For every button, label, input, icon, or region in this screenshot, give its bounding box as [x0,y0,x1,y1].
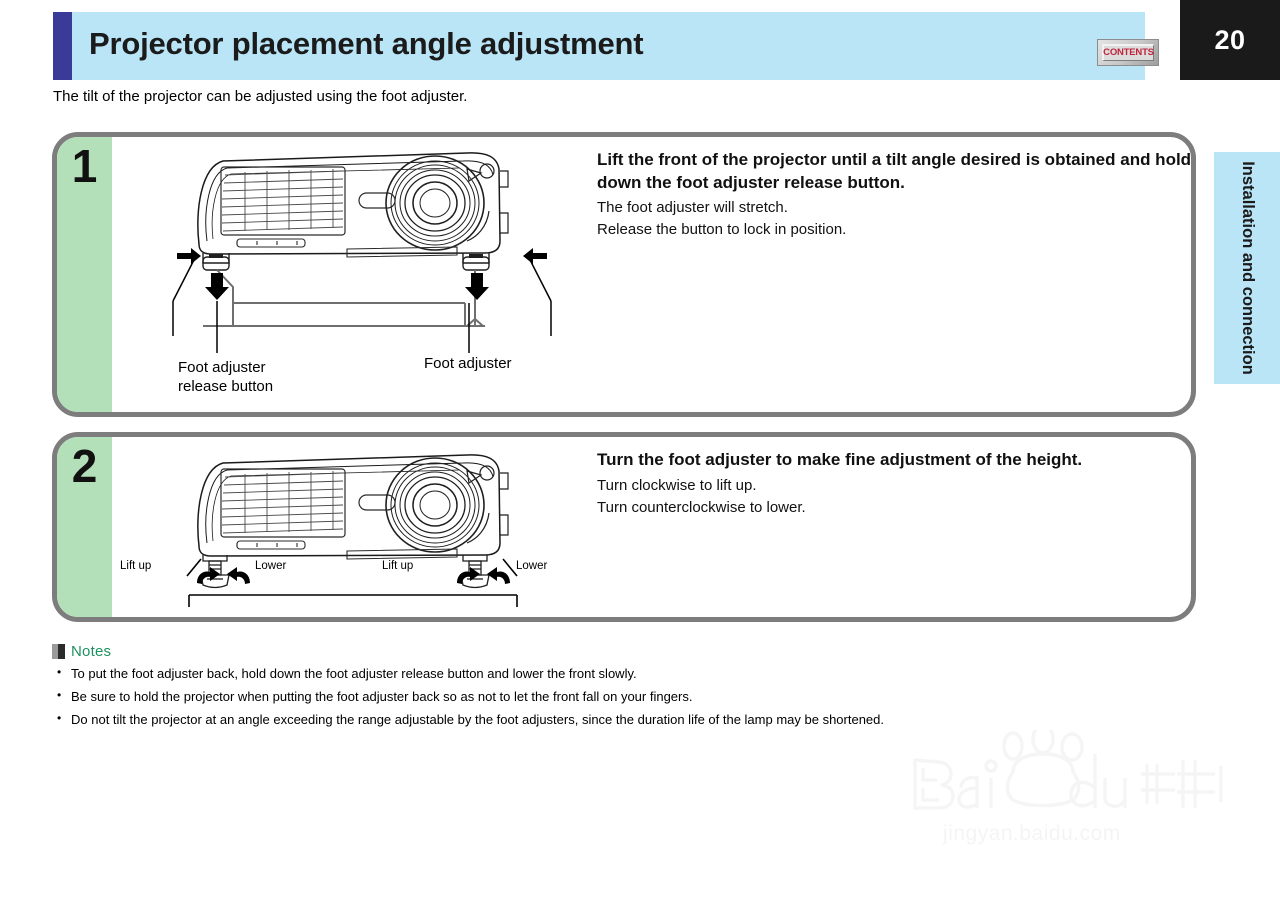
notes-heading: Notes [52,643,1172,660]
projector-illustration-step-2 [167,443,587,608]
caption-left-lower: Lower [255,560,286,572]
section-side-tab: Installation and connection [1214,152,1280,384]
step-number-column: 2 [57,437,112,617]
caption-left-lift-up: Lift up [120,560,151,572]
caption-release-button-line-2: release button [178,378,273,397]
header-accent-bar [53,12,72,80]
page-title: Projector placement angle adjustment [89,26,643,62]
step-1-line-1: The foot adjuster will stretch. [597,197,1196,219]
step-1-line-2: Release the button to lock in position. [597,219,1196,241]
step-number: 1 [57,143,112,189]
step-1-heading: Lift the front of the projector until a … [597,149,1196,194]
contents-button-face: CONTENTS [1102,44,1154,61]
notes-list: To put the foot adjuster back, hold down… [52,664,1172,730]
caption-right-lift-up: Lift up [382,560,413,572]
note-item: Do not tilt the projector at an angle ex… [52,710,1172,730]
step-panel-2: 2 Turn the foot adjuster to make fine ad… [52,432,1196,622]
note-item: To put the foot adjuster back, hold down… [52,664,1172,684]
step-1-instructions: Lift the front of the projector until a … [597,149,1196,241]
step-2-heading: Turn the foot adjuster to make fine adju… [597,449,1196,472]
step-number: 2 [57,443,112,489]
step-2-line-1: Turn clockwise to lift up. [597,475,1196,497]
caption-release-button-line-1: Foot adjuster [178,359,273,378]
baidu-watermark-logo [895,730,1235,825]
section-side-tab-label: Installation and connection [1214,152,1280,384]
notes-title: Notes [71,643,111,660]
caption-foot-adjuster: Foot adjuster [424,355,512,374]
step-2-line-2: Turn counterclockwise to lower. [597,497,1196,519]
contents-button[interactable]: CONTENTS [1097,39,1159,66]
step-number-column: 1 [57,137,112,412]
notes-section: Notes To put the foot adjuster back, hol… [52,643,1172,733]
intro-text: The tilt of the projector can be adjuste… [53,88,467,105]
contents-button-label: CONTENTS [1103,48,1154,58]
step-body: Turn the foot adjuster to make fine adju… [112,437,1191,617]
step-panel-1: 1 Lift the front of the projector until … [52,132,1196,417]
baidu-watermark: jingyan.baidu.com [895,730,1235,850]
note-icon [52,644,65,659]
note-item: Be sure to hold the projector when putti… [52,687,1172,707]
step-body: Lift the front of the projector until a … [112,137,1191,412]
baidu-watermark-url: jingyan.baidu.com [943,822,1121,846]
projector-illustration-step-1 [167,141,587,356]
page-number-tab: 20 [1180,0,1280,80]
caption-release-button: Foot adjuster release button [178,359,273,397]
page-number: 20 [1214,25,1245,56]
caption-right-lower: Lower [516,560,547,572]
page-header: Projector placement angle adjustment [53,12,1145,80]
step-2-instructions: Turn the foot adjuster to make fine adju… [597,449,1196,518]
